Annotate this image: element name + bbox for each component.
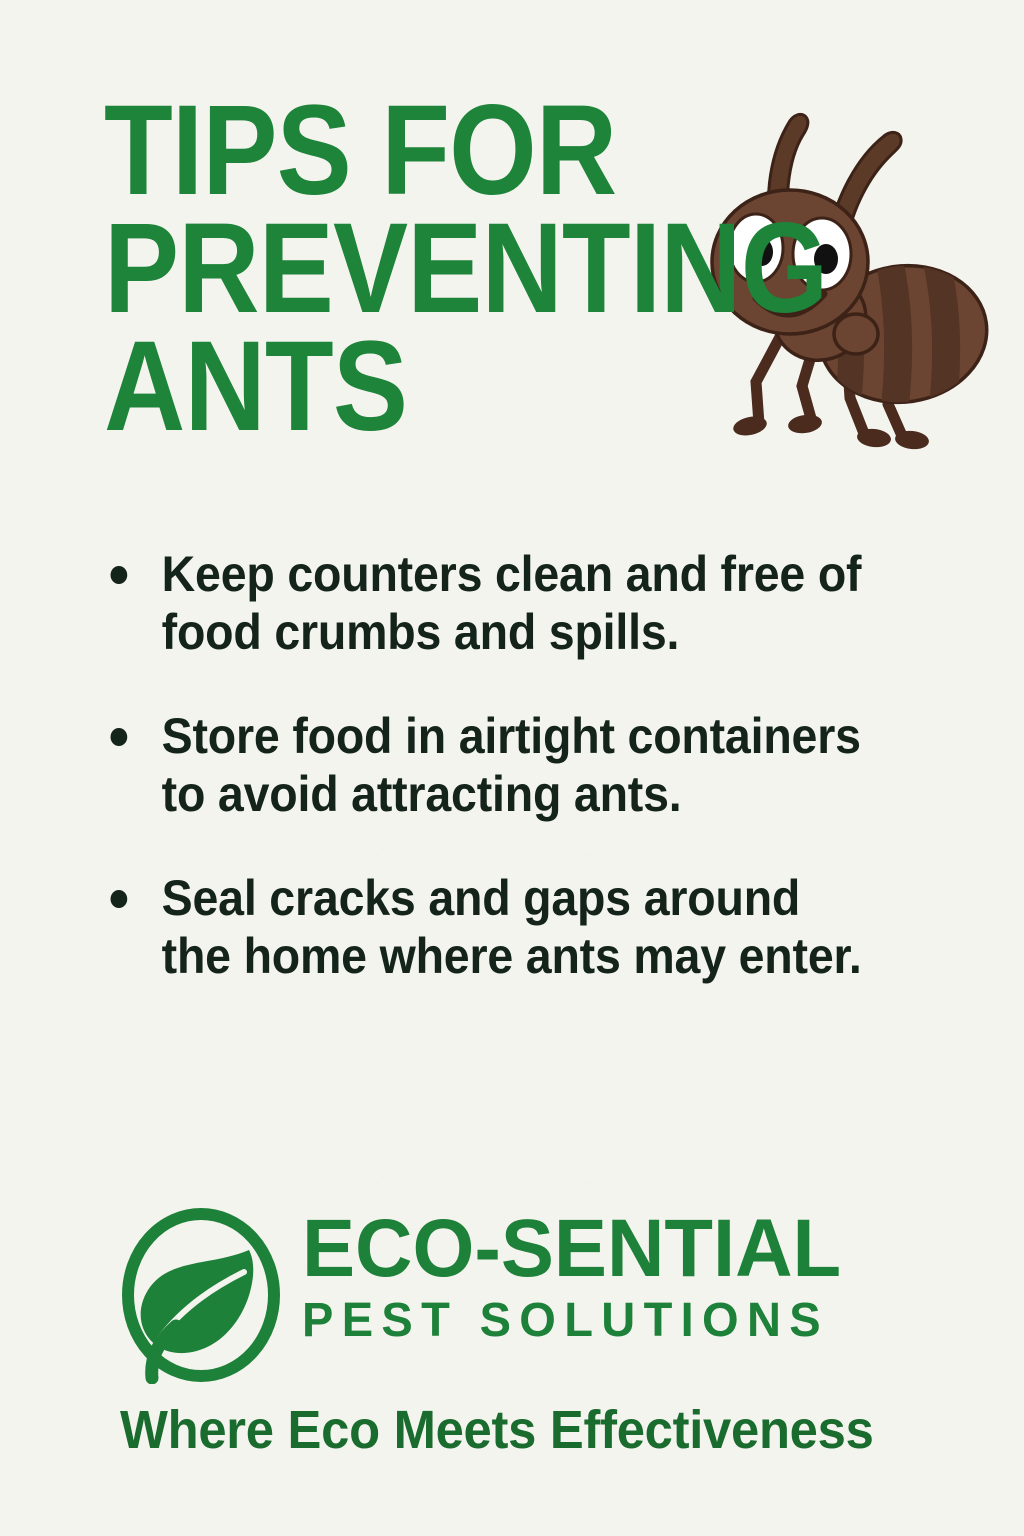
- bullet-dot-icon: [111, 890, 128, 908]
- title-line-3: ANTS: [104, 328, 667, 446]
- company-name: ECO-SENTIAL: [302, 1210, 903, 1287]
- logo-row: ECO-SENTIAL PEST SOLUTIONS: [104, 1206, 924, 1386]
- brand-tagline: Where Eco Meets Effectiveness: [120, 1402, 874, 1459]
- list-item: Seal cracks and gaps around the home whe…: [104, 869, 876, 985]
- list-item: Keep counters clean and free of food cru…: [104, 545, 876, 661]
- logo-wordmark: ECO-SENTIAL PEST SOLUTIONS: [302, 1210, 922, 1348]
- tip-text: Store food in airtight containers to avo…: [162, 708, 861, 822]
- tips-list: Keep counters clean and free of food cru…: [104, 545, 934, 1031]
- brand-logo: ECO-SENTIAL PEST SOLUTIONS Where Eco Mee…: [104, 1206, 924, 1506]
- leaf-in-circle-icon: [116, 1206, 286, 1384]
- title-line-2: PREVENTING: [104, 210, 667, 328]
- title-line-1: TIPS FOR: [104, 92, 667, 210]
- page-title: TIPS FOR PREVENTING ANTS: [104, 92, 744, 445]
- list-item: Store food in airtight containers to avo…: [104, 707, 876, 823]
- poster-canvas: TIPS FOR PREVENTING ANTS: [0, 0, 1024, 1536]
- tip-text: Seal cracks and gaps around the home whe…: [162, 870, 862, 984]
- ant-waist: [834, 314, 878, 354]
- bullet-dot-icon: [111, 566, 128, 584]
- company-subtitle: PEST SOLUTIONS: [302, 1295, 910, 1348]
- tip-text: Keep counters clean and free of food cru…: [162, 546, 862, 660]
- bullet-dot-icon: [111, 728, 128, 746]
